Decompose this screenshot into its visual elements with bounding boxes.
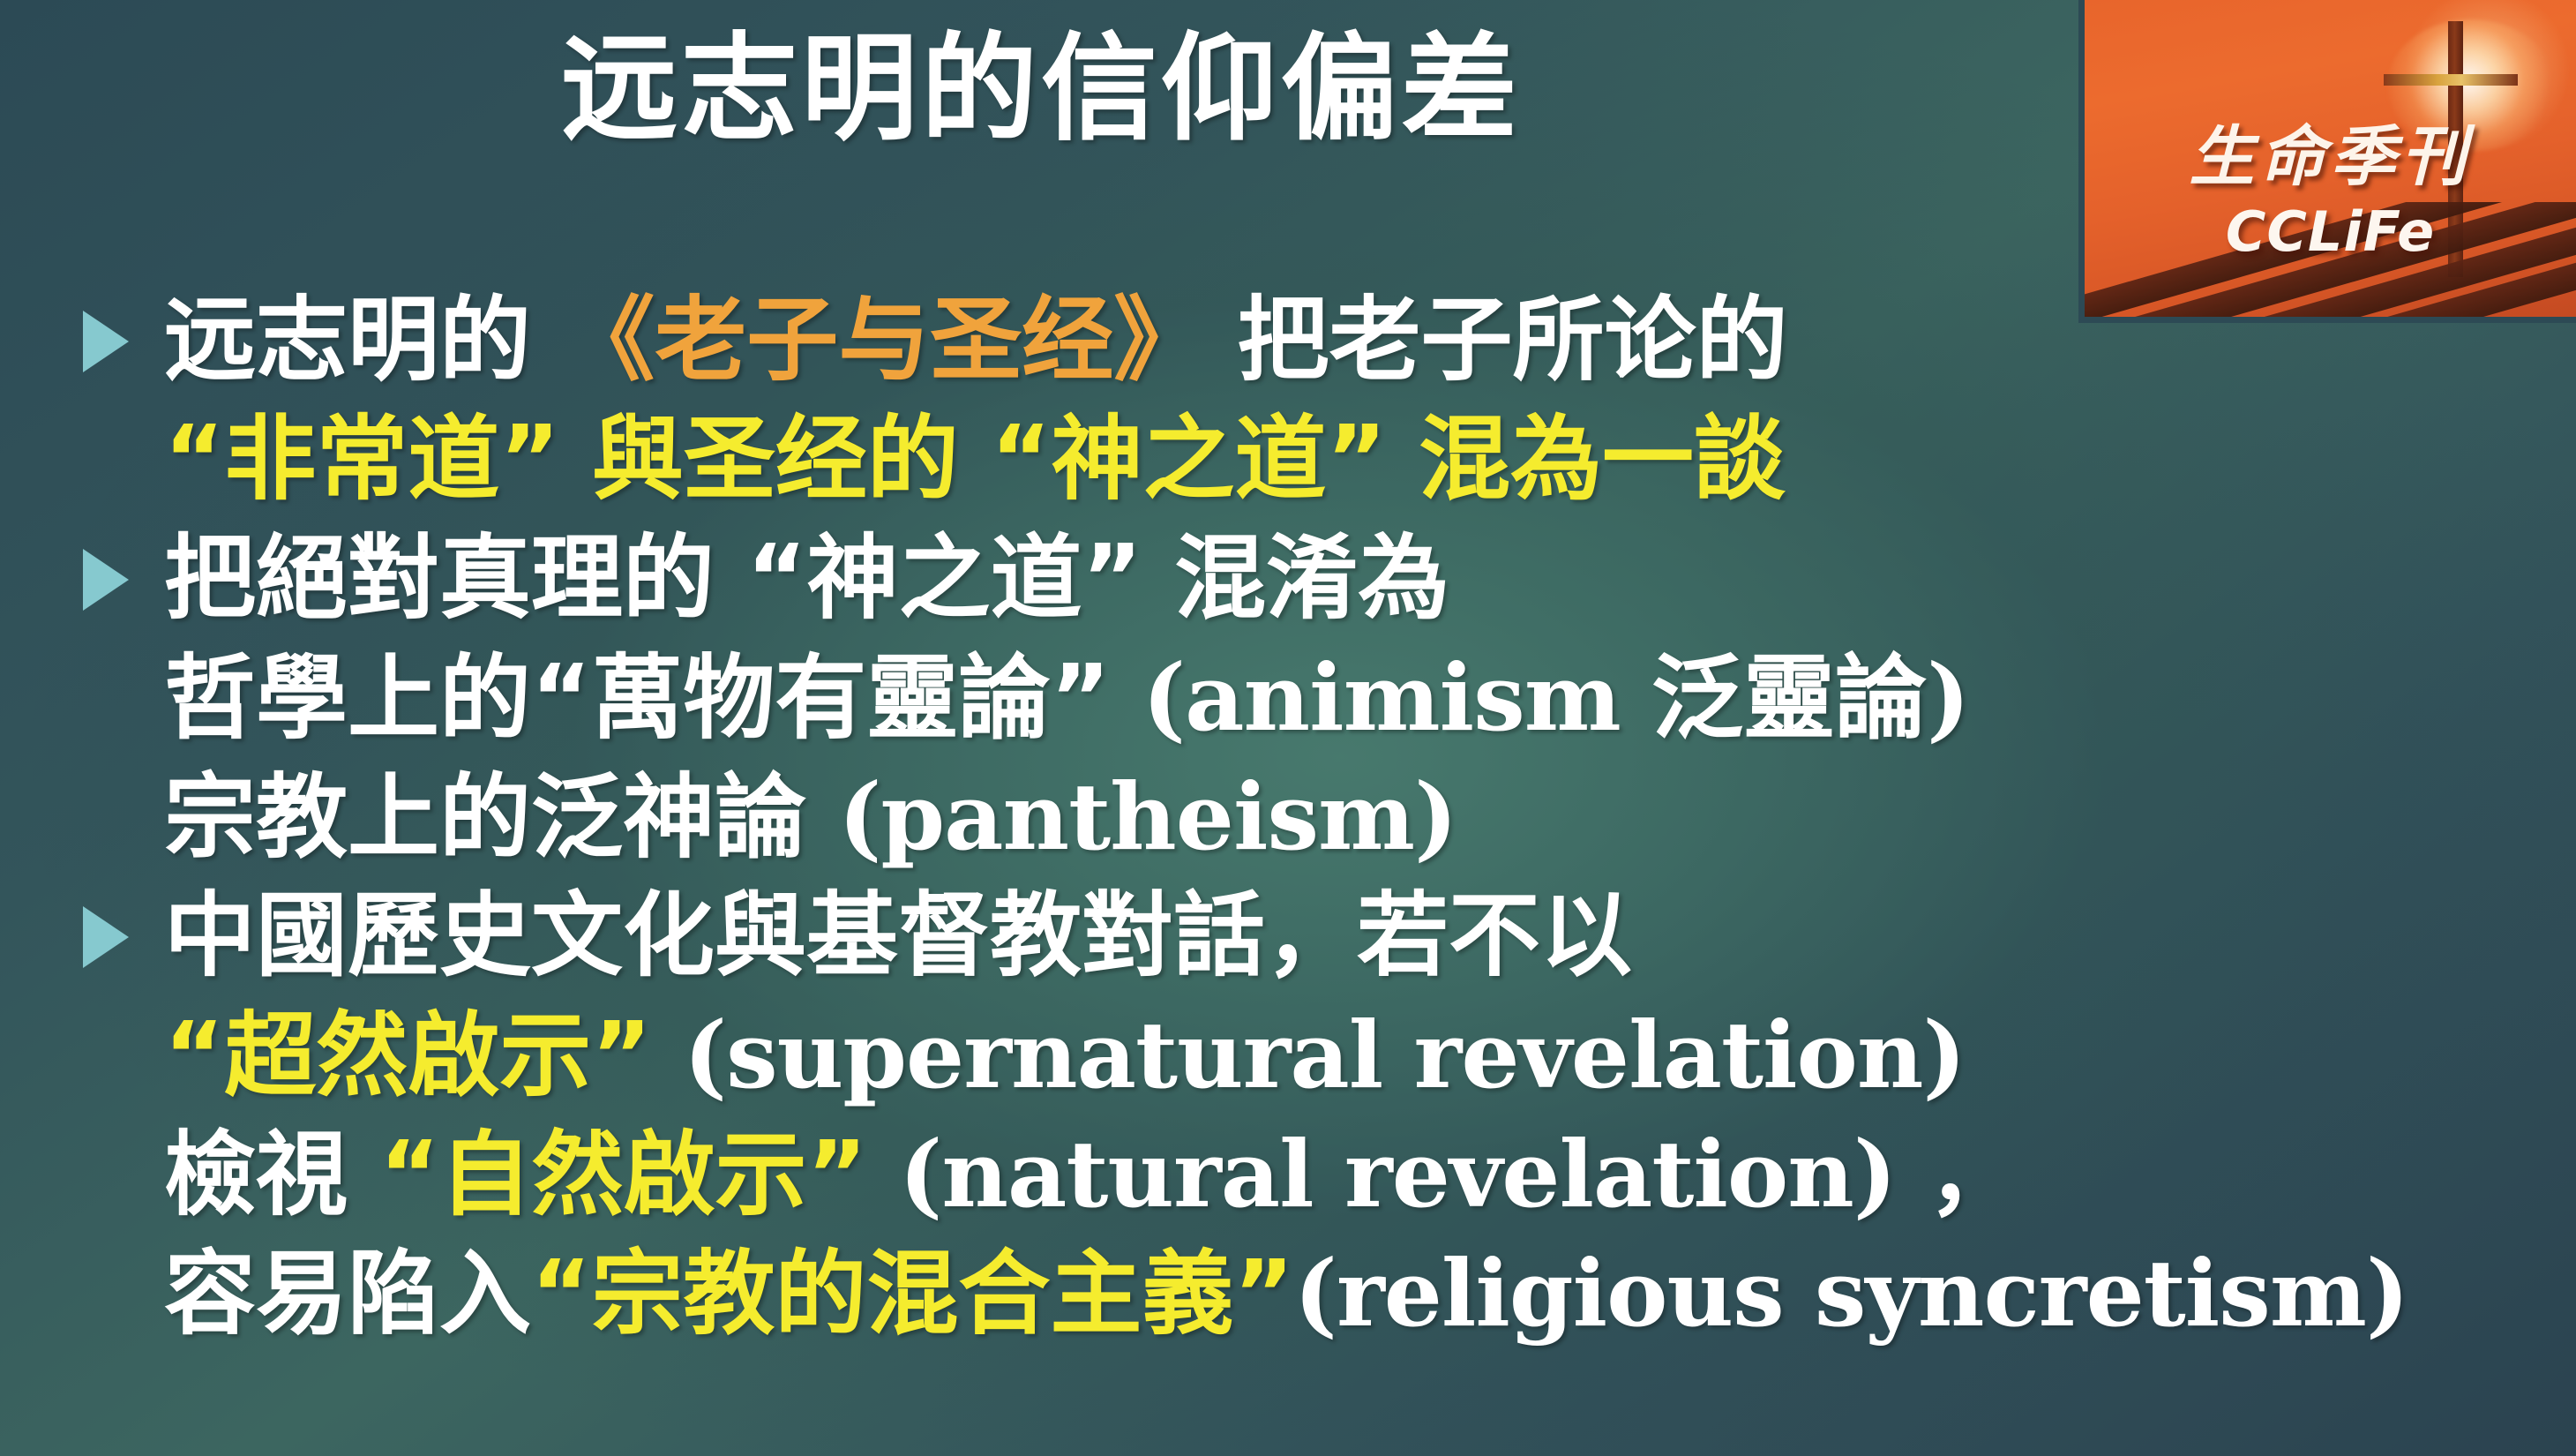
logo-chinese-name: 生命季刊 [2085, 104, 2576, 199]
slide-title-container: 远志明的信仰偏差 [0, 25, 2082, 155]
text-segment: 远志明的 [164, 286, 563, 394]
text-segment: “自然啟示” [379, 1121, 899, 1228]
text-segment: (supernatural revelation) [684, 1001, 1966, 1109]
text-segment: (natural revelation) [899, 1120, 1896, 1228]
cclife-logo: 生命季刊 CCLiFe [2078, 0, 2576, 323]
text-segment: 檢視 [164, 1121, 379, 1228]
bullet-item-1-line-2: “非常道” 與圣经的 “神之道” 混為一談 [74, 400, 2103, 519]
text-segment: 把老子所论的 [1205, 286, 1787, 394]
text-segment: 容易陷入 [164, 1240, 531, 1347]
bullet-item-3: 中國歷史文化與基督教對話，若不以 [74, 876, 2103, 995]
text-segment: (pantheism) [838, 762, 1456, 871]
text-segment: 中國歷史文化與基督教對話，若不以 [164, 882, 1632, 989]
triangle-right-icon [83, 311, 129, 372]
logo-english-name: CCLiFe [2085, 199, 2576, 264]
text-segment: 《老子与圣经》 [563, 286, 1205, 394]
text-segment: (animism [1142, 643, 1651, 752]
text-segment: 宗教上的泛神論 [164, 763, 838, 871]
bullet-item-3-line-4: 容易陷入“宗教的混合主義”(religious syncretism) [74, 1234, 2103, 1353]
text-segment: (religious syncretism) [1294, 1239, 2408, 1347]
text-segment: ) [1927, 643, 1969, 752]
text-segment: “宗教的混合主義” [531, 1240, 1294, 1347]
slide-canvas: 远志明的信仰偏差 生命季刊 CCLiFe 远志明的 《老子与圣经》 把老子所论的… [0, 0, 2576, 1456]
bullet-item-2-line-2: 哲學上的“萬物有靈論” (animism 泛靈論) [74, 638, 2103, 757]
bullet-item-2: 把絕對真理的 “神之道” 混淆為 [74, 519, 2103, 638]
bullet-item-2-line-3: 宗教上的泛神論 (pantheism) [74, 757, 2103, 876]
text-segment: 哲學上的“萬物有靈論” [164, 644, 1142, 752]
triangle-right-icon [83, 549, 129, 611]
text-segment: 把絕對真理的 “神之道” 混淆為 [164, 524, 1449, 632]
bullet-item-3-line-3: 檢視 “自然啟示” (natural revelation) ， [74, 1115, 2103, 1234]
text-segment: ， [1896, 1121, 2019, 1228]
text-segment: “非常道” 與圣经的 “神之道” 混為一談 [164, 405, 1786, 513]
cross-icon-horizontal [2384, 74, 2518, 86]
bullet-item-1: 远志明的 《老子与圣经》 把老子所论的 [74, 281, 2103, 400]
triangle-right-icon [83, 906, 129, 968]
page-title: 远志明的信仰偏差 [561, 25, 1521, 155]
slide-body: 远志明的 《老子与圣经》 把老子所论的“非常道” 與圣经的 “神之道” 混為一談… [74, 281, 2103, 1353]
text-segment: “超然啟示” [164, 1002, 684, 1109]
bullet-item-3-line-2: “超然啟示” (supernatural revelation) [74, 995, 2103, 1115]
text-segment: 泛靈論 [1651, 644, 1927, 752]
